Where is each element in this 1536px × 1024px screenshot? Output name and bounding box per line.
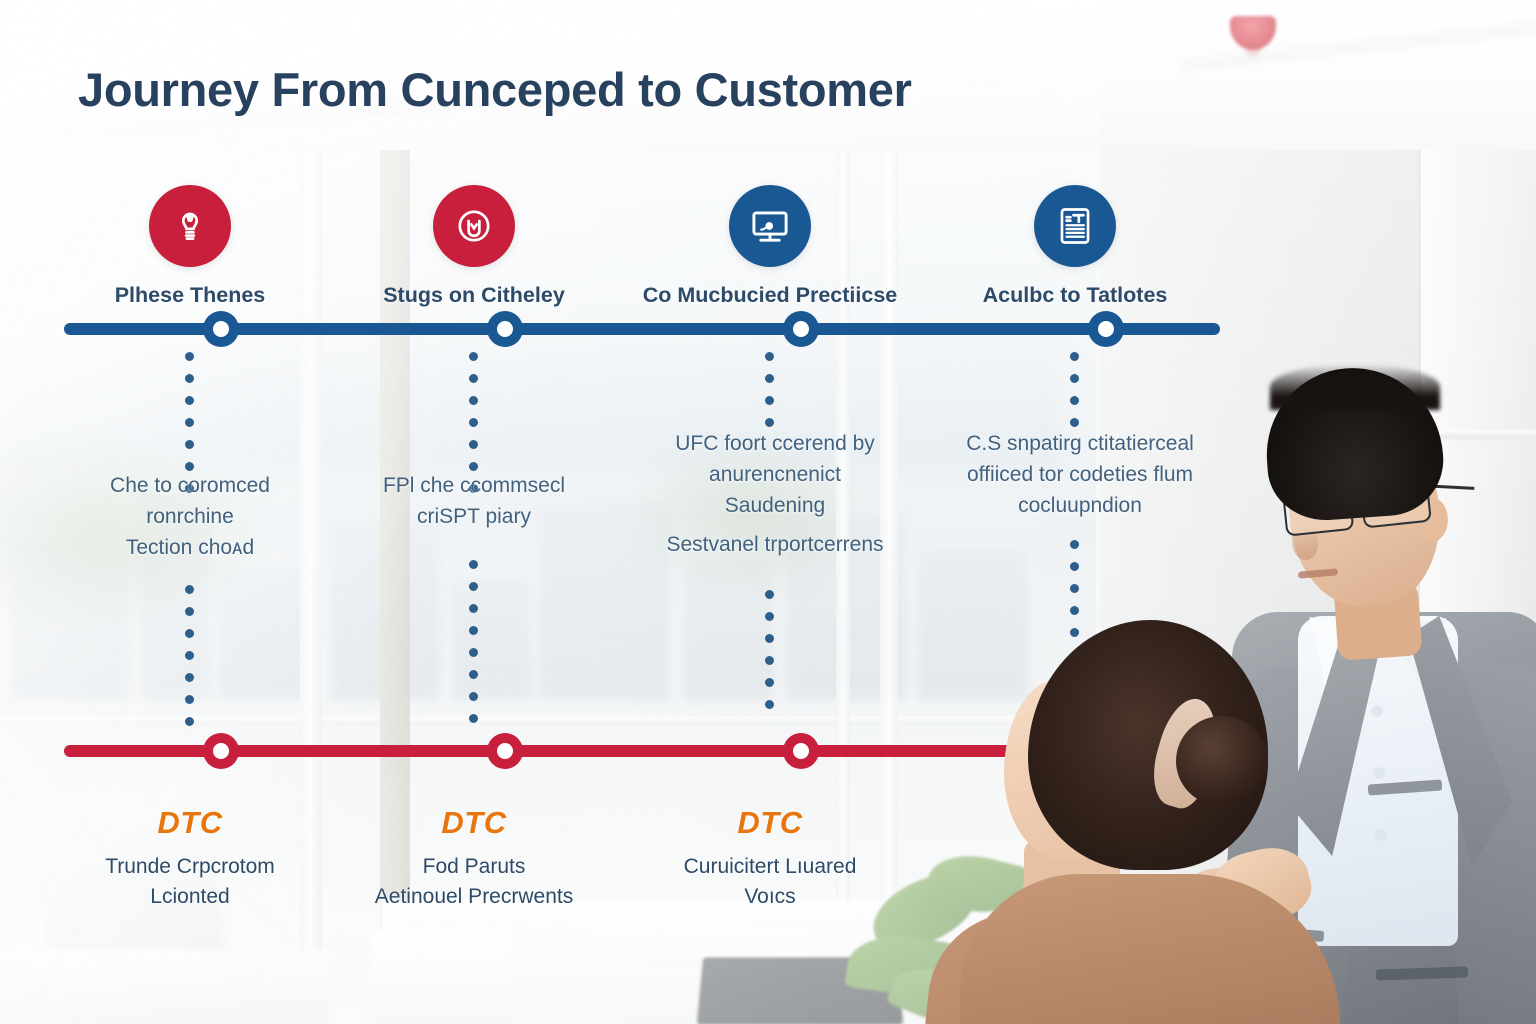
phase-description: FPl che ccommsecl criSPT piary <box>319 470 629 532</box>
description-line: anurencnenict <box>615 459 935 490</box>
outcome-node-red[interactable] <box>783 733 819 769</box>
monitor-icon <box>729 185 811 267</box>
description-line: Sestvanel trportcerrens <box>615 529 935 560</box>
outcome-line: Fod Paruts <box>319 852 629 882</box>
outcome-description: Clinni <box>920 852 1230 882</box>
rail-arrowhead <box>1012 733 1042 769</box>
outcome-line: Clinni <box>920 852 1230 882</box>
brand-logo-dtc: DTC <box>620 805 920 841</box>
connector-dots-upper <box>1070 352 1079 427</box>
brand-logo-dtc: DTC <box>40 805 340 841</box>
brand-logo-dtc: DTC <box>324 805 624 841</box>
phase-description: UFC foort ccerend by anurencnenict Saude… <box>615 428 935 560</box>
timeline-infographic: Journey From Cunceped to Customer Plhese… <box>0 0 1536 1024</box>
outcome-description: Fod Paruts Aetinouel Precrwents <box>319 852 629 912</box>
connector-dots-lower <box>1070 540 1079 637</box>
outcome-node-red[interactable] <box>203 733 239 769</box>
connector-dots-lower <box>469 560 478 723</box>
page-title: Journey From Cunceped to Customer <box>78 62 912 117</box>
connector-dots-lower <box>765 590 774 709</box>
phase-node-blue[interactable] <box>783 311 819 347</box>
infographic-slide: Journey From Cunceped to Customer Plhese… <box>0 0 1536 1024</box>
lightbulb-icon <box>149 185 231 267</box>
outcome-line: Curuicitert Lıuared <box>615 852 925 882</box>
outcome-description: Trunde Crpcrotom Lcionted <box>35 852 345 912</box>
phase-label: Plhese Thenes <box>40 283 340 308</box>
outcome-line: Lcionted <box>35 882 345 912</box>
connector-dots-lower <box>185 585 194 726</box>
description-line: UFC foort ccerend by <box>615 428 935 459</box>
phase-description: Che to coromced ronrchine Tection choᴀd <box>35 470 345 563</box>
phase-label: Stugs on Citheley <box>324 283 624 308</box>
outcome-line: Aetinouel Precrwents <box>319 882 629 912</box>
description-line: Tection choᴀd <box>35 532 345 563</box>
phase-description: C.S snpatirg ctitatierceal offiiced tor … <box>920 428 1240 521</box>
phase-label: Co Mucbucied Prectiicse <box>620 283 920 308</box>
outcome-line: Voıcs <box>615 882 925 912</box>
description-line: cocluupndion <box>920 490 1240 521</box>
description-line: FPl che ccommsecl <box>319 470 629 501</box>
phase-label: Aculbc to Tatlotes <box>925 283 1225 308</box>
phase-node-blue[interactable] <box>203 311 239 347</box>
description-line: offiiced tor codeties flum <box>920 459 1240 490</box>
description-line: C.S snpatirg ctitatierceal <box>920 428 1240 459</box>
description-line: Che to coromced <box>35 470 345 501</box>
connector-dots-upper <box>765 352 774 427</box>
document-checklist-icon <box>1034 185 1116 267</box>
outcome-node-red[interactable] <box>487 733 523 769</box>
phase-node-blue[interactable] <box>1088 311 1124 347</box>
refresh-check-icon <box>433 185 515 267</box>
outcome-description: Curuicitert Lıuared Voıcs <box>615 852 925 912</box>
phase-node-blue[interactable] <box>487 311 523 347</box>
description-line: criSPT piary <box>319 501 629 532</box>
description-line: Saudening <box>615 490 935 521</box>
brand-logo-dtc: Ð <box>925 805 1225 841</box>
outcome-node-red[interactable] <box>1088 733 1124 769</box>
description-line: ronrchine <box>35 501 345 532</box>
outcome-line: Trunde Crpcrotom <box>35 852 345 882</box>
